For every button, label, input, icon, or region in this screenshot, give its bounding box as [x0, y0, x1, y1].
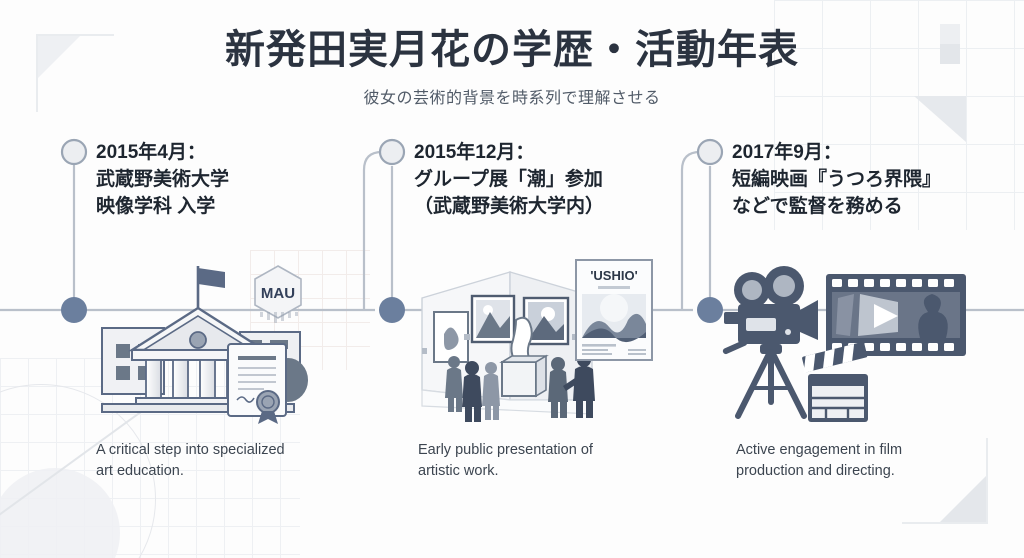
- timeline-item-1-caption: A critical step into specialized art edu…: [96, 440, 346, 482]
- header: 新発田実月花の学歴・活動年表 彼女の芸術的背景を時系列で理解させる: [0, 26, 1024, 108]
- timeline-item-1-heading: 2015年4月： 武蔵野美術大学 映像学科 入学: [96, 140, 396, 221]
- timeline-item-2[interactable]: 2015年12月： グループ展「潮」参加 （武蔵野美術大学内）: [414, 140, 714, 221]
- timeline-item-3[interactable]: 2017年9月： 短編映画『うつろ界隈』 などで監督を務める: [732, 140, 1024, 221]
- slide-canvas: 新発田実月花の学歴・活動年表 彼女の芸術的背景を時系列で理解させる: [0, 0, 1024, 558]
- timeline-item-2-heading: 2015年12月： グループ展「潮」参加 （武蔵野美術大学内）: [414, 140, 714, 221]
- page-title: 新発田実月花の学歴・活動年表: [0, 26, 1024, 74]
- timeline-item-2-caption: Early public presentation of artistic wo…: [418, 440, 668, 482]
- page-subtitle: 彼女の芸術的背景を時系列で理解させる: [0, 84, 1024, 108]
- timeline-item-1[interactable]: 2015年4月： 武蔵野美術大学 映像学科 入学: [96, 140, 396, 221]
- timeline-item-3-caption: Active engagement in film production and…: [736, 440, 991, 482]
- timeline-item-3-heading: 2017年9月： 短編映画『うつろ界隈』 などで監督を務める: [732, 140, 1024, 221]
